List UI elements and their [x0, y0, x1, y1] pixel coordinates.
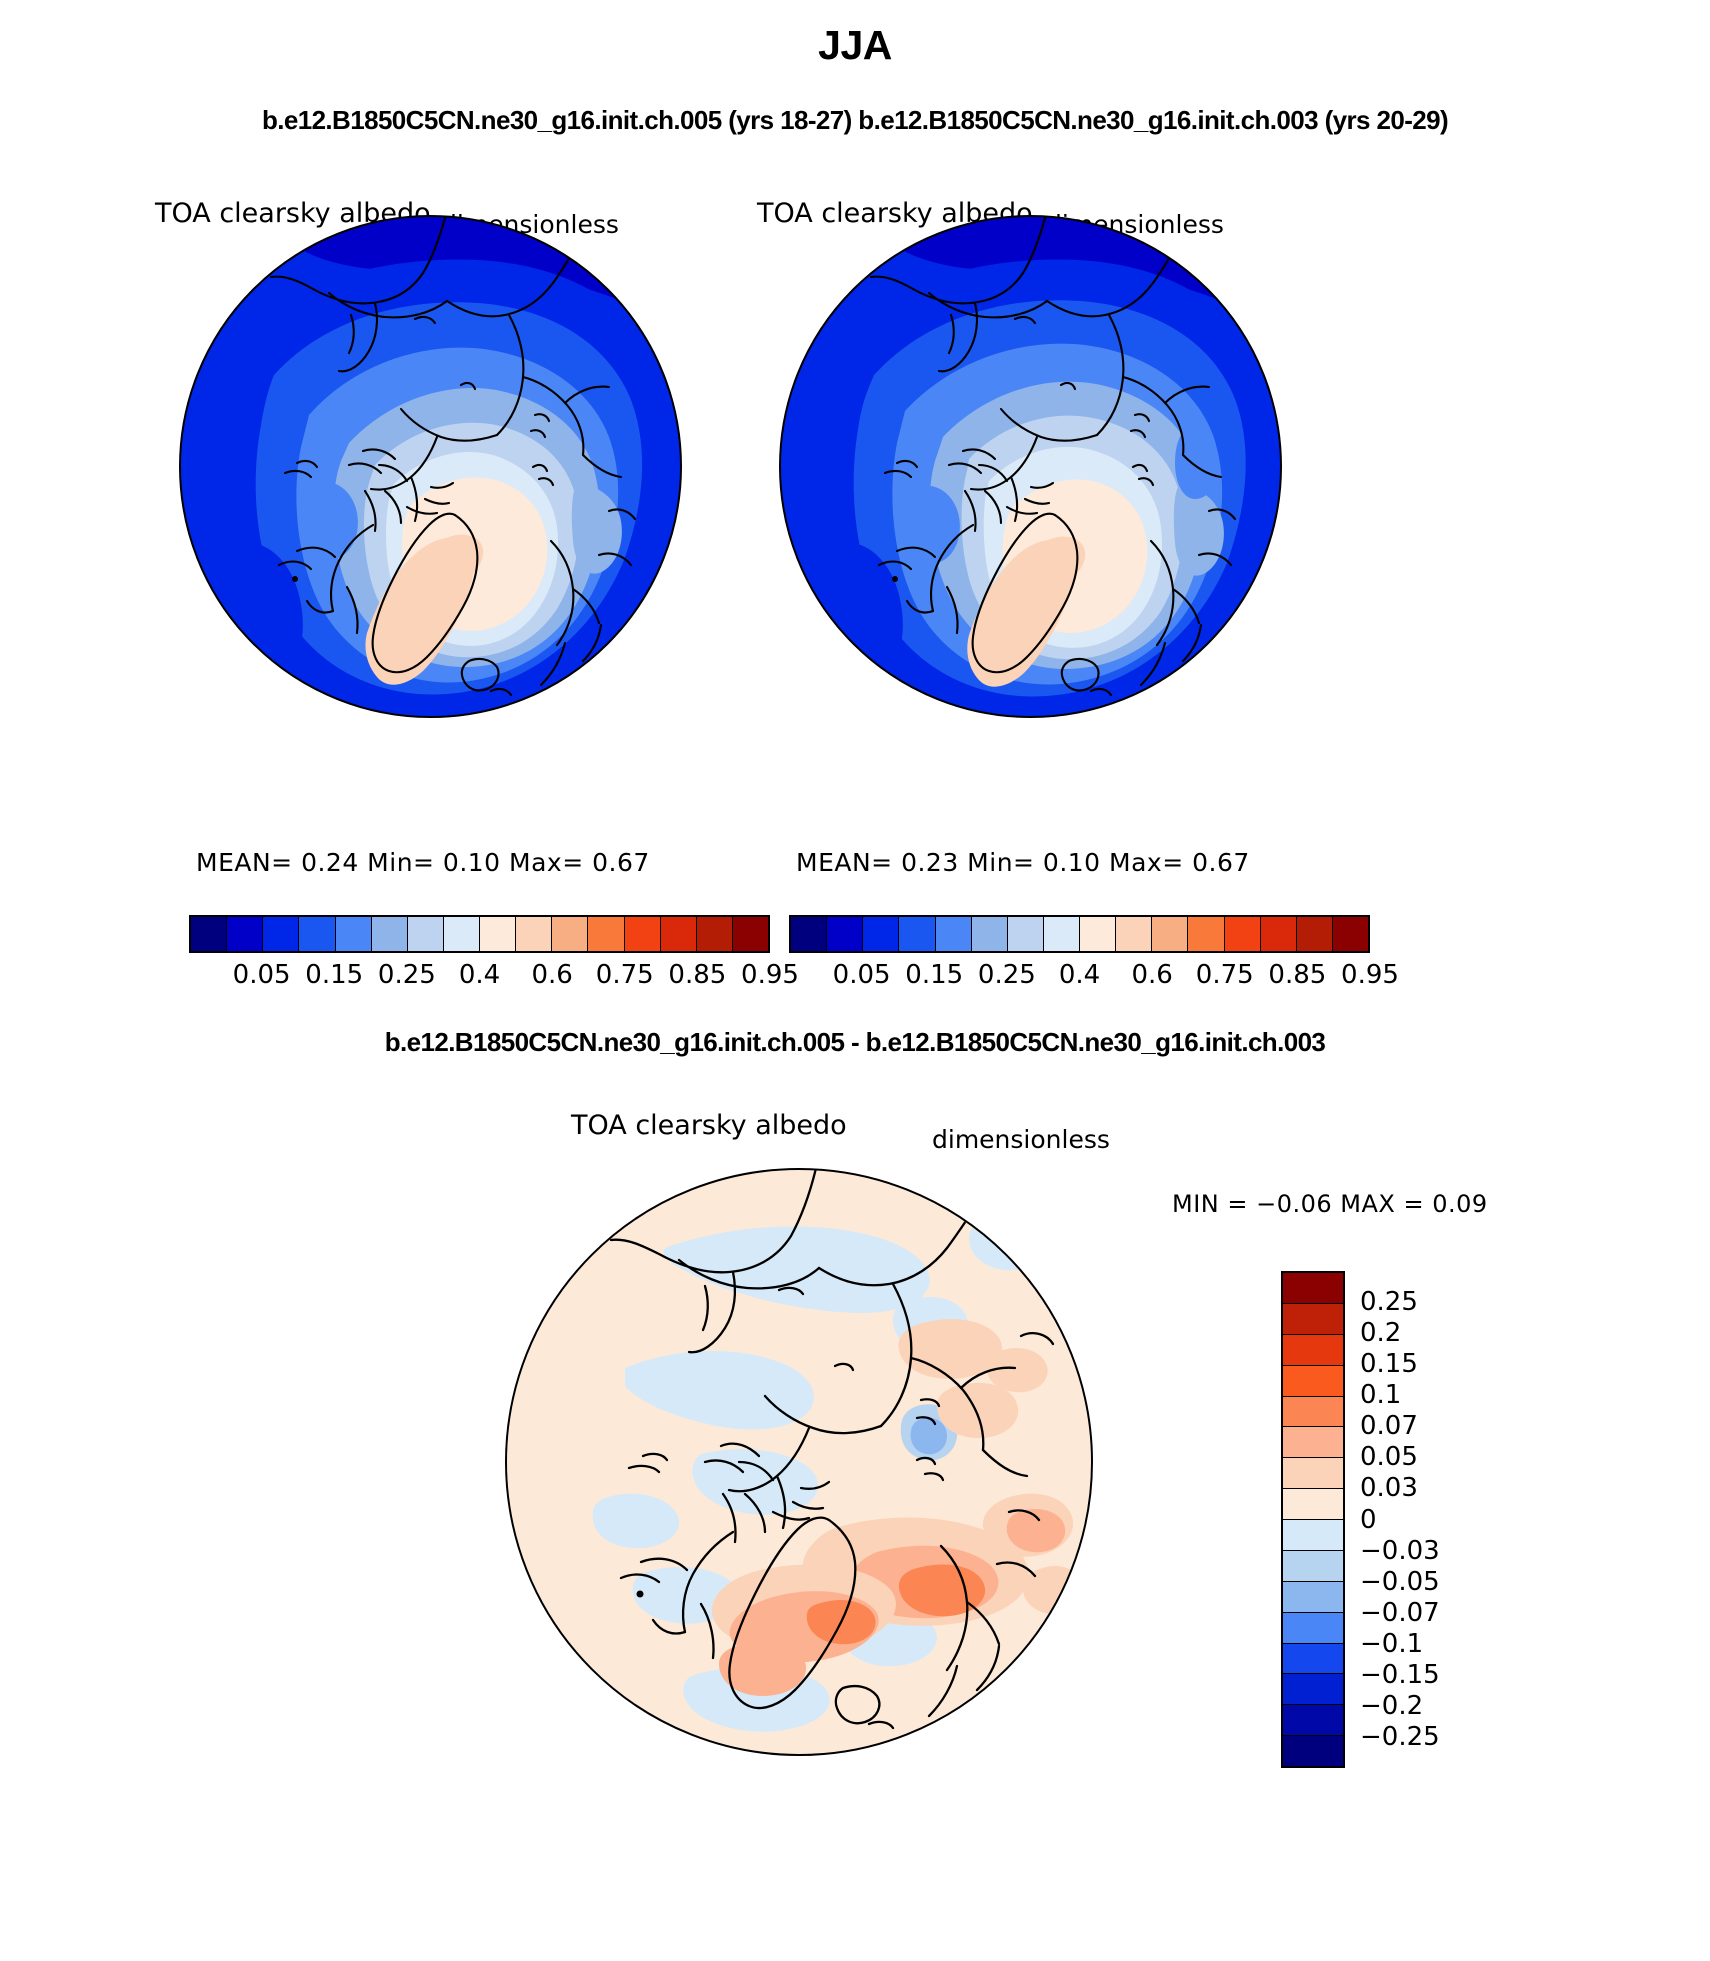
- colorbar-swatch: [1333, 917, 1368, 951]
- colorbar-swatch: [1283, 1736, 1343, 1766]
- colorbar-tick-label: −0.25: [1360, 1722, 1440, 1752]
- colorbar-tick-label: 0.15: [294, 960, 374, 990]
- map-left-polar-stereographic[interactable]: [179, 215, 682, 718]
- colorbar-tick-label: 0.25: [967, 960, 1047, 990]
- diff-panel-units-label: dimensionless: [932, 1125, 1110, 1154]
- colorbar-swatch: [372, 917, 408, 951]
- colorbar-swatch: [1283, 1674, 1343, 1705]
- colorbar-swatch: [863, 917, 899, 951]
- colorbar-left-ticks: 0.050.150.250.40.60.750.850.95: [189, 960, 770, 994]
- colorbar-swatch: [791, 917, 827, 951]
- colorbar-swatch: [1225, 917, 1261, 951]
- colorbar-swatch: [1044, 917, 1080, 951]
- colorbar-swatch: [1283, 1489, 1343, 1520]
- colorbar-difference-labels: 0.250.20.150.10.070.050.030−0.03−0.05−0.…: [1360, 1286, 1490, 1752]
- colorbar-tick-label: 0.2: [1360, 1318, 1401, 1348]
- colorbar-swatch: [1283, 1458, 1343, 1489]
- colorbar-swatch: [552, 917, 588, 951]
- left-panel-stats: MEAN= 0.24 Min= 0.10 Max= 0.67: [196, 848, 650, 877]
- colorbar-tick-label: 0.15: [1360, 1349, 1418, 1379]
- colorbar-swatch: [1283, 1613, 1343, 1644]
- colorbar-swatch: [1283, 1366, 1343, 1397]
- colorbar-difference-vertical[interactable]: [1281, 1271, 1345, 1768]
- colorbar-tick-label: 0.6: [1112, 960, 1192, 990]
- colorbar-swatch: [625, 917, 661, 951]
- colorbar-swatch: [1283, 1304, 1343, 1335]
- colorbar-tick-label: 0.07: [1360, 1411, 1418, 1441]
- colorbar-swatch: [1283, 1705, 1343, 1736]
- colorbar-tick-label: −0.1: [1360, 1629, 1423, 1659]
- colorbar-left[interactable]: [189, 915, 770, 953]
- colorbar-swatch: [1283, 1427, 1343, 1458]
- colorbar-swatch: [299, 917, 335, 951]
- colorbar-tick-label: 0.05: [1360, 1442, 1418, 1472]
- colorbar-swatch: [1283, 1397, 1343, 1428]
- colorbar-swatch: [1283, 1273, 1343, 1304]
- colorbar-tick-label: 0.15: [894, 960, 974, 990]
- colorbar-swatch: [697, 917, 733, 951]
- colorbar-swatch: [1152, 917, 1188, 951]
- colorbar-tick-label: 0.05: [822, 960, 902, 990]
- colorbar-swatch: [516, 917, 552, 951]
- colorbar-right-ticks: 0.050.150.250.40.60.750.850.95: [789, 960, 1370, 994]
- colorbar-tick-label: 0.95: [1330, 960, 1410, 990]
- colorbar-swatch: [1261, 917, 1297, 951]
- colorbar-tick-label: −0.15: [1360, 1660, 1440, 1690]
- colorbar-swatch: [480, 917, 516, 951]
- colorbar-swatch: [444, 917, 480, 951]
- diff-panel-field-label: TOA clearsky albedo: [571, 1110, 847, 1141]
- colorbar-swatch: [972, 917, 1008, 951]
- colorbar-swatch: [1283, 1644, 1343, 1675]
- colorbar-swatch: [661, 917, 697, 951]
- colorbar-tick-label: 0.85: [1257, 960, 1337, 990]
- colorbar-swatch: [733, 917, 768, 951]
- colorbar-tick-label: 0.75: [585, 960, 665, 990]
- colorbar-swatch: [336, 917, 372, 951]
- difference-title: b.e12.B1850C5CN.ne30_g16.init.ch.005 - b…: [0, 1027, 1710, 1058]
- colorbar-tick-label: −0.07: [1360, 1598, 1440, 1628]
- colorbar-tick-label: −0.05: [1360, 1567, 1440, 1597]
- subtitle: b.e12.B1850C5CN.ne30_g16.init.ch.005 (yr…: [0, 105, 1710, 136]
- map-left-svg: [179, 215, 682, 718]
- colorbar-swatch: [263, 917, 299, 951]
- colorbar-swatch: [1283, 1582, 1343, 1613]
- colorbar-swatch: [936, 917, 972, 951]
- colorbar-swatch: [1297, 917, 1333, 951]
- colorbar-tick-label: 0.03: [1360, 1473, 1418, 1503]
- colorbar-tick-label: 0.25: [367, 960, 447, 990]
- colorbar-tick-label: 0.05: [222, 960, 302, 990]
- main-title: JJA: [0, 22, 1710, 69]
- map-difference-svg: [505, 1168, 1093, 1756]
- colorbar-tick-label: 0.4: [440, 960, 520, 990]
- map-right-polar-stereographic[interactable]: [779, 215, 1282, 718]
- colorbar-tick-label: 0.75: [1185, 960, 1265, 990]
- colorbar-swatch: [1188, 917, 1224, 951]
- map-difference-polar-stereographic[interactable]: [505, 1168, 1093, 1756]
- map-right-svg: [779, 215, 1282, 718]
- colorbar-swatch: [1283, 1335, 1343, 1366]
- colorbar-swatch: [1283, 1551, 1343, 1582]
- right-panel-stats: MEAN= 0.23 Min= 0.10 Max= 0.67: [796, 848, 1250, 877]
- colorbar-tick-label: 0.6: [512, 960, 592, 990]
- colorbar-swatch: [191, 917, 227, 951]
- colorbar-tick-label: −0.03: [1360, 1536, 1440, 1566]
- colorbar-tick-label: 0.85: [657, 960, 737, 990]
- colorbar-tick-label: 0.1: [1360, 1380, 1401, 1410]
- colorbar-tick-label: 0.25: [1360, 1287, 1418, 1317]
- colorbar-tick-label: −0.2: [1360, 1691, 1423, 1721]
- colorbar-swatch: [1283, 1520, 1343, 1551]
- colorbar-right[interactable]: [789, 915, 1370, 953]
- colorbar-tick-label: 0.4: [1040, 960, 1120, 990]
- colorbar-swatch: [899, 917, 935, 951]
- colorbar-swatch: [827, 917, 863, 951]
- colorbar-swatch: [1116, 917, 1152, 951]
- colorbar-tick-label: 0: [1360, 1505, 1377, 1535]
- colorbar-swatch: [588, 917, 624, 951]
- colorbar-swatch: [1080, 917, 1116, 951]
- colorbar-swatch: [1008, 917, 1044, 951]
- colorbar-swatch: [227, 917, 263, 951]
- colorbar-swatch: [408, 917, 444, 951]
- diff-panel-minmax: MIN = −0.06 MAX = 0.09: [1172, 1190, 1488, 1218]
